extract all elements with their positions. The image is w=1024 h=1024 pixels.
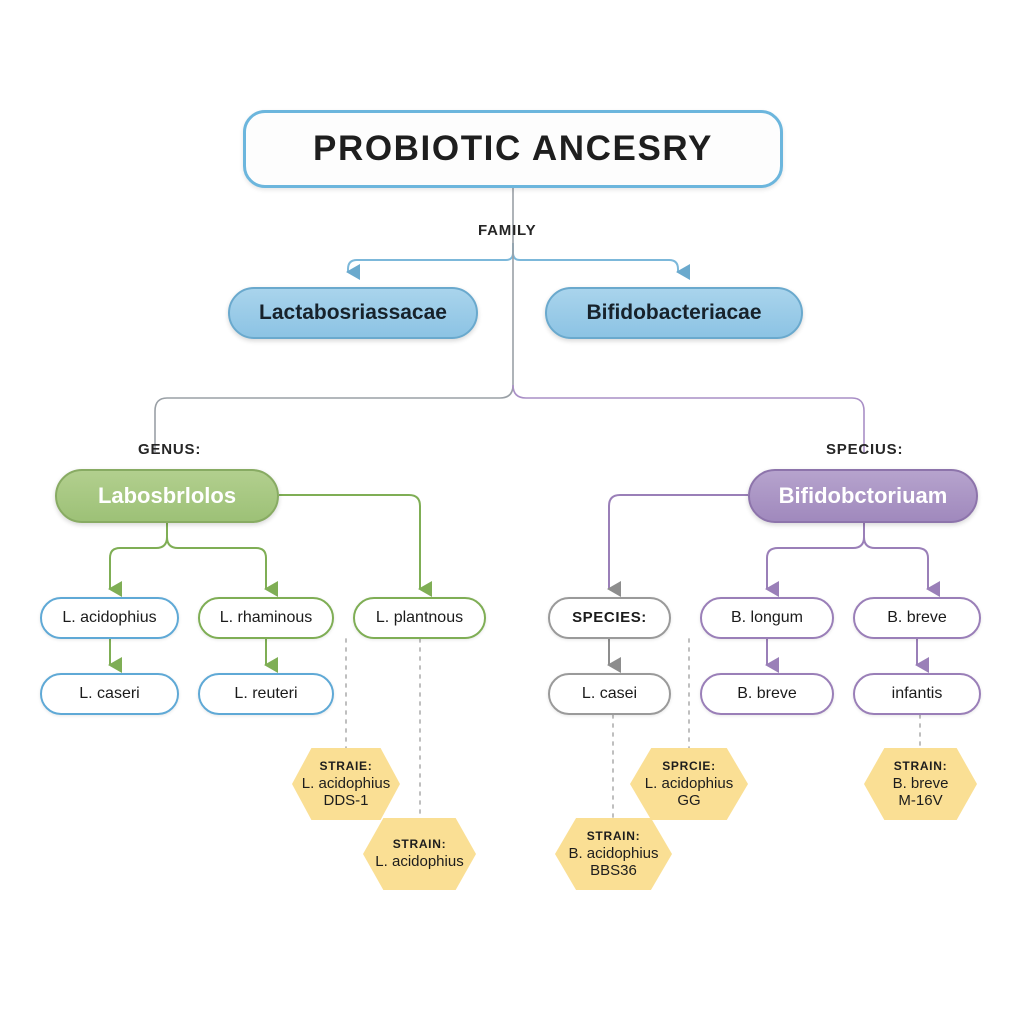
strain-code: GG: [677, 792, 700, 809]
rank-label-family: FAMILY: [478, 222, 536, 239]
subspecies-node-b-breve[interactable]: B. breve: [700, 673, 834, 715]
subspecies-node-l-reuteri[interactable]: L. reuteri: [198, 673, 334, 715]
page-title: PROBIOTIC ANCESRY: [243, 110, 783, 188]
rank-label-specius: SPECIUS:: [826, 441, 903, 458]
species-node-l-acidophilus[interactable]: L. acidophius: [40, 597, 179, 639]
strain-rank: SPRCIE:: [662, 759, 716, 773]
family-node-bifidobacteriaceae[interactable]: Bifidobacteriacae: [545, 287, 803, 339]
edge-left-sub: [110, 639, 266, 665]
genus-node-bifidobacterium[interactable]: Bifidobctoriuam: [748, 469, 978, 523]
subspecies-node-l-casei[interactable]: L. casei: [548, 673, 671, 715]
strain-rank: STRAIN:: [894, 759, 948, 773]
species-node-l-plantarum[interactable]: L. plantnous: [353, 597, 486, 639]
species-node-b-longum[interactable]: B. longum: [700, 597, 834, 639]
strain-name: L. acidophius: [645, 775, 733, 792]
edge-genus-split: [155, 385, 864, 452]
strain-badge[interactable]: STRAIN: B. acidophius BBS36: [555, 818, 672, 890]
strain-name: L. acidophius: [302, 775, 390, 792]
strain-code: M-16V: [898, 792, 942, 809]
genus-node-lactobacillus[interactable]: Labosbrlolos: [55, 469, 279, 523]
strain-rank: STRAIE:: [320, 759, 373, 773]
subspecies-node-infantis[interactable]: infantis: [853, 673, 981, 715]
family-node-lactobacillaceae[interactable]: Lactabosriassacae: [228, 287, 478, 339]
strain-name: L. acidophius: [375, 853, 463, 870]
rank-label-genus: GENUS:: [138, 441, 201, 458]
edge-strain-dashed: [346, 639, 920, 818]
edge-family-fan: [348, 243, 678, 272]
strain-badge[interactable]: STRAIN: L. acidophius: [363, 818, 476, 890]
species-node-l-rhamnosus[interactable]: L. rhaminous: [198, 597, 334, 639]
strain-badge[interactable]: STRAIE: L. acidophius DDS-1: [292, 748, 400, 820]
strain-name: B. acidophius: [568, 845, 658, 862]
strain-rank: STRAIN:: [393, 837, 447, 851]
species-node-b-breve[interactable]: B. breve: [853, 597, 981, 639]
strain-code: DDS-1: [323, 792, 368, 809]
strain-badge[interactable]: SPRCIE: L. acidophius GG: [630, 748, 748, 820]
strain-name: B. breve: [893, 775, 949, 792]
diagram-canvas: PROBIOTIC ANCESRY FAMILY GENUS: SPECIUS:…: [0, 0, 1024, 1024]
subspecies-node-l-casei[interactable]: L. caseri: [40, 673, 179, 715]
strain-badge[interactable]: STRAIN: B. breve M-16V: [864, 748, 977, 820]
rank-node-species[interactable]: SPECIES:: [548, 597, 671, 639]
strain-code: BBS36: [590, 862, 637, 879]
strain-rank: STRAIN:: [587, 829, 641, 843]
edge-right-sub: [609, 639, 917, 665]
